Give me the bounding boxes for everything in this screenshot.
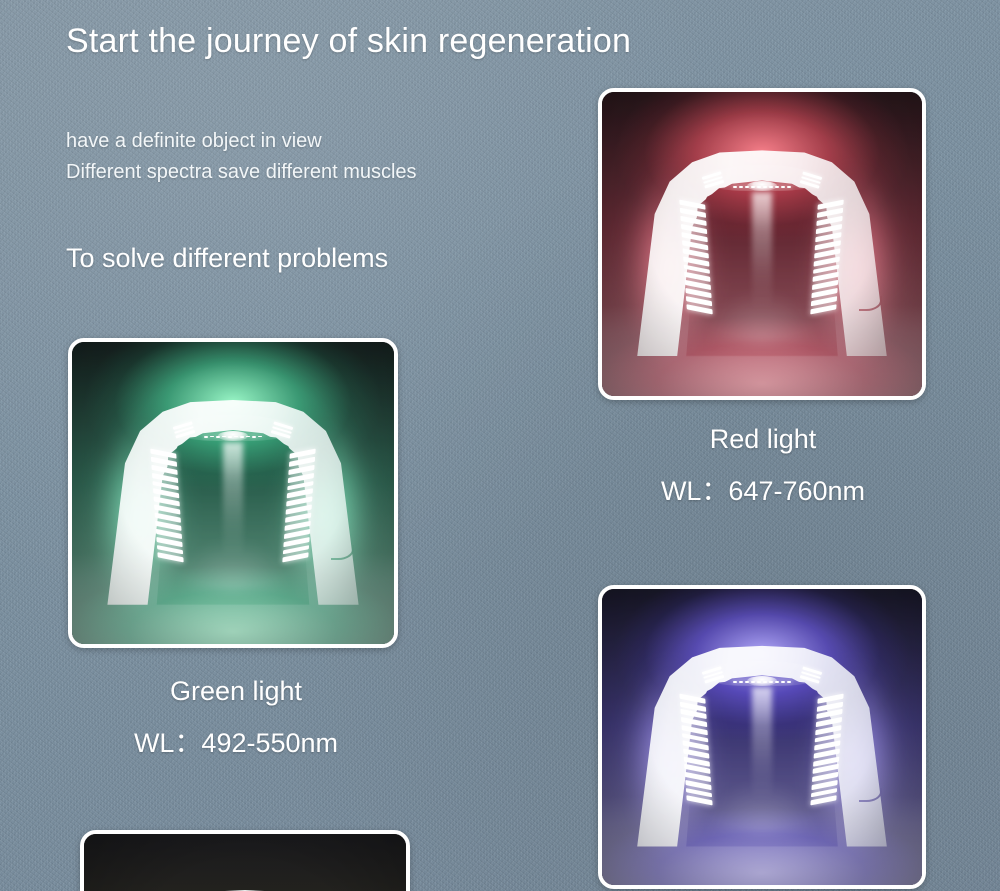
subtitle-line-1: have a definite object in view — [66, 130, 322, 153]
device-shell — [119, 881, 370, 891]
light-card-green[interactable] — [68, 338, 398, 648]
pdt-device — [107, 390, 358, 604]
product-photo-green — [72, 342, 394, 644]
product-photo-blue — [602, 589, 922, 885]
mist-cloud — [702, 737, 822, 834]
caption-red: Red light WL：647-760nm — [598, 424, 928, 508]
pdt-device — [119, 881, 370, 891]
led-head-assembly — [705, 661, 820, 686]
light-card-blue[interactable] — [598, 585, 926, 889]
lead-text: To solve different problems — [66, 243, 388, 274]
led-head-assembly — [705, 165, 820, 191]
pdt-device — [637, 141, 887, 357]
subtitle-line-2: Different spectra save different muscles — [66, 161, 417, 184]
page-title: Start the journey of skin regeneration — [66, 22, 631, 61]
led-head-assembly — [175, 415, 291, 441]
light-wavelength-red: WL：647-760nm — [598, 469, 928, 508]
page-root: Start the journey of skin regeneration h… — [0, 0, 1000, 891]
light-card-yellow[interactable] — [80, 830, 410, 891]
light-name-red: Red light — [598, 424, 928, 455]
mist-emitter — [747, 181, 777, 191]
mist-emitter — [747, 676, 777, 686]
mist-cloud — [173, 493, 294, 592]
mist-cloud — [702, 244, 822, 343]
light-wavelength-green: WL：492-550nm — [66, 721, 406, 760]
light-card-red[interactable] — [598, 88, 926, 400]
mist-emitter — [218, 431, 248, 441]
product-photo-red — [602, 92, 922, 396]
light-name-green: Green light — [66, 676, 406, 707]
pdt-device — [637, 636, 887, 846]
caption-green: Green light WL：492-550nm — [66, 676, 406, 760]
product-photo-yellow — [84, 834, 406, 891]
